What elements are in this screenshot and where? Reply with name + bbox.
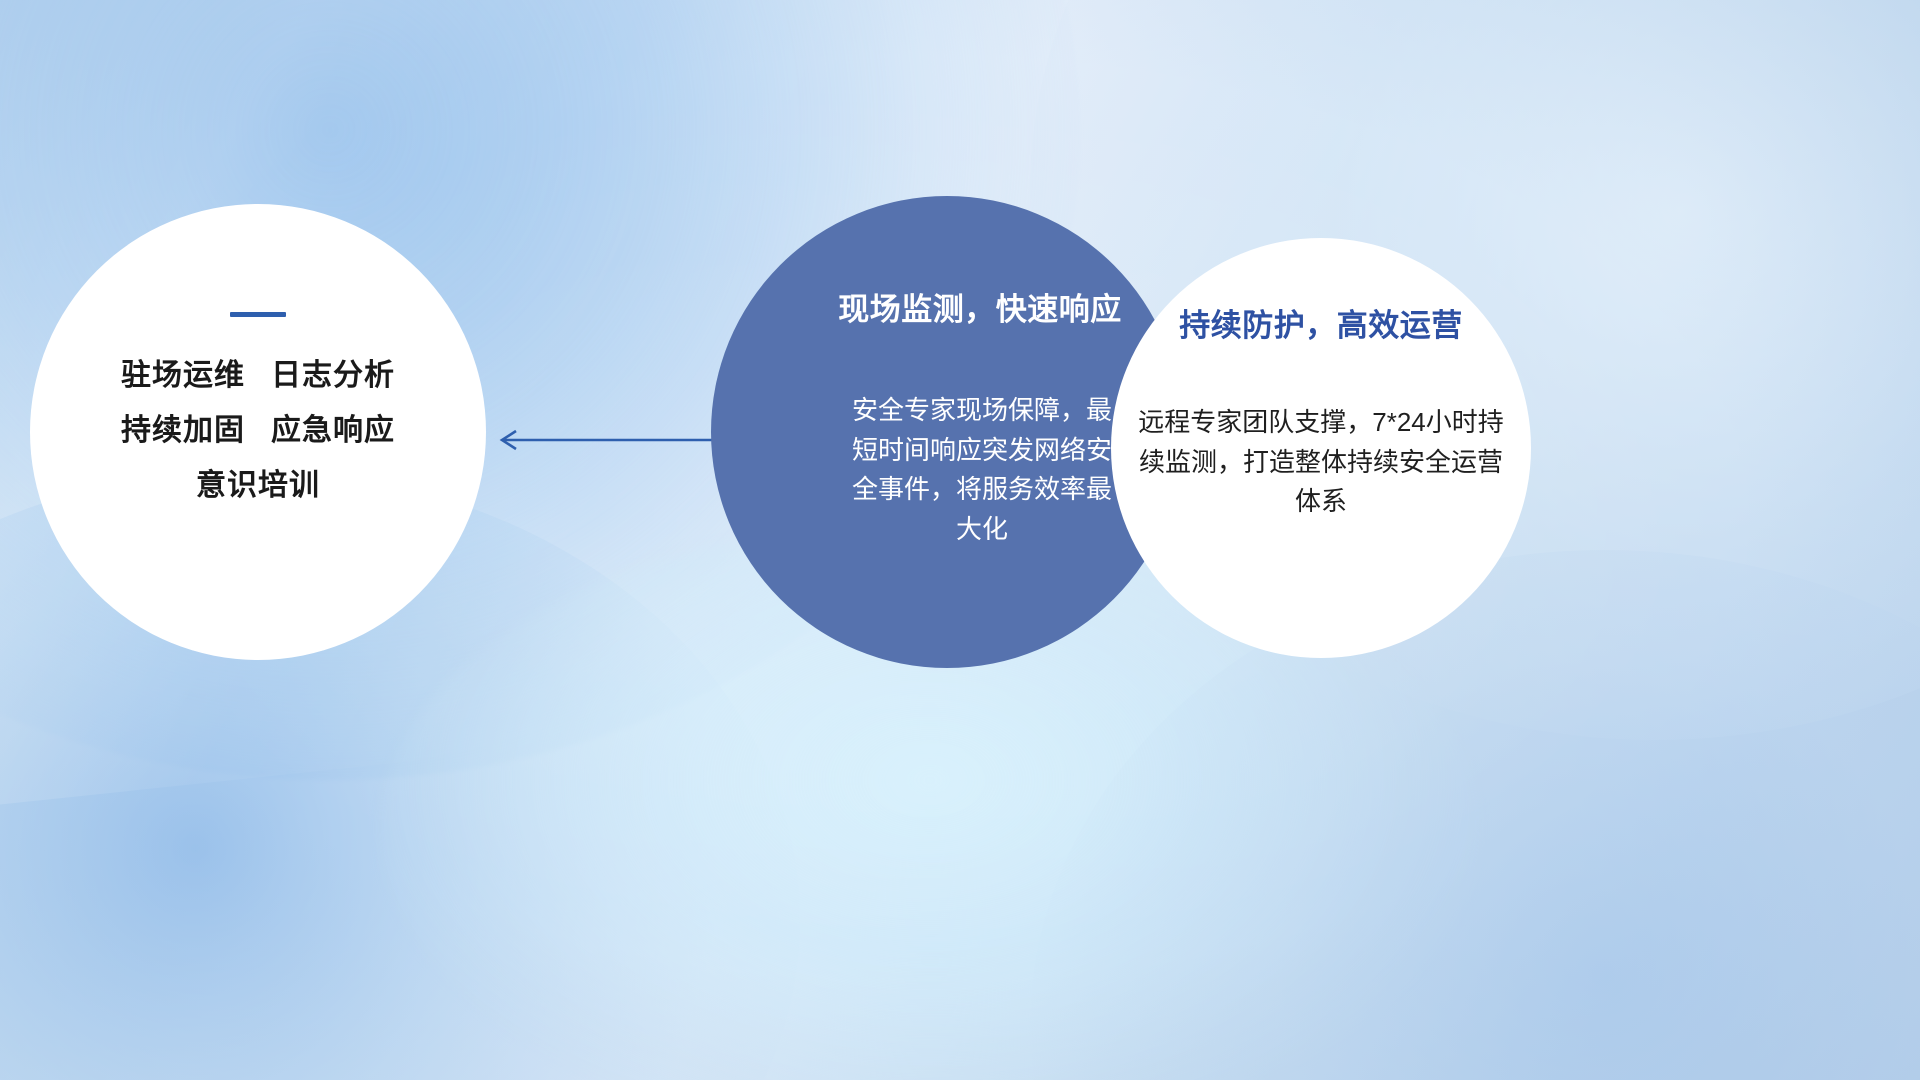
- capability-circle-right[interactable]: 持续防护，高效运营 远程专家团队支撑，7*24小时持续监测，打造整体持续安全运营…: [1111, 238, 1531, 658]
- capability-list: 驻场运维日志分析 持续加固应急响应 意识培训: [121, 359, 395, 502]
- capability-tag: 驻场运维: [121, 359, 245, 392]
- middle-circle-body: 安全专家现场保障，最短时间响应突发网络安全事件，将服务效率最大化: [848, 391, 1116, 549]
- accent-dash-icon: [230, 312, 286, 317]
- capability-tag: 日志分析: [271, 359, 395, 392]
- middle-circle-title: 现场监测，快速响应: [838, 284, 1122, 329]
- capability-row-3: 意识培训: [196, 469, 320, 502]
- connector-arrow: [494, 424, 718, 456]
- slide-canvas: 驻场运维日志分析 持续加固应急响应 意识培训 现场监测，快速响应 安全专家现场保…: [0, 0, 1920, 1080]
- capability-tag: 意识培训: [196, 469, 320, 502]
- capability-tag: 持续加固: [121, 414, 245, 447]
- capability-row-2: 持续加固应急响应: [121, 414, 395, 447]
- capability-tag: 应急响应: [271, 414, 395, 447]
- right-circle-title: 持续防护，高效运营: [1179, 300, 1463, 345]
- right-circle-body: 远程专家团队支撑，7*24小时持续监测，打造整体持续安全运营体系: [1136, 403, 1506, 522]
- capability-circle-left[interactable]: 驻场运维日志分析 持续加固应急响应 意识培训: [30, 204, 486, 660]
- capability-row-1: 驻场运维日志分析: [121, 359, 395, 392]
- arrow-left-icon: [494, 424, 718, 456]
